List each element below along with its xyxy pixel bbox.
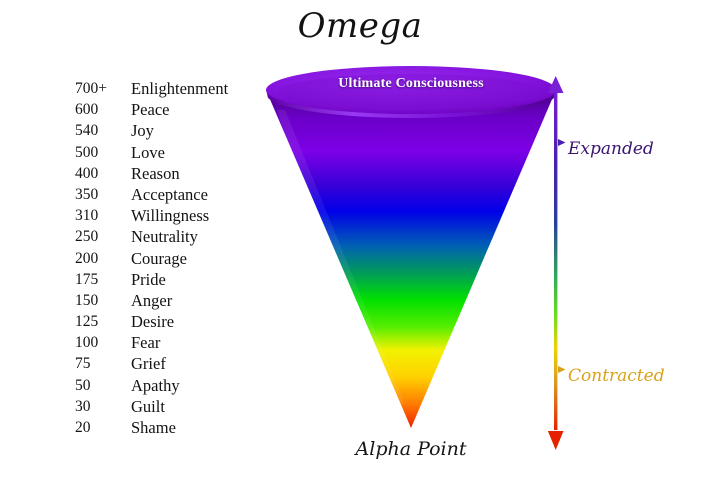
consciousness-cone: [255, 52, 575, 452]
scale-row: 200Courage: [70, 248, 270, 269]
scale-row: 600Peace: [70, 99, 270, 120]
scale-row: 500Love: [70, 142, 270, 163]
consciousness-scale-list: 700+Enlightenment600Peace540Joy500Love40…: [70, 78, 270, 438]
scale-row: 100Fear: [70, 332, 270, 353]
scale-row: 50Apathy: [70, 375, 270, 396]
scale-row-label: Desire: [131, 311, 174, 332]
axis-shaft: [554, 86, 557, 430]
scale-row-value: 125: [75, 311, 98, 332]
scale-row-value: 75: [75, 353, 91, 374]
cone-body: [266, 90, 556, 428]
scale-row-value: 310: [75, 205, 98, 226]
scale-row: 30Guilt: [70, 396, 270, 417]
scale-row-label: Anger: [131, 290, 172, 311]
scale-row: 400Reason: [70, 163, 270, 184]
scale-row-value: 150: [75, 290, 98, 311]
scale-row-value: 540: [75, 120, 98, 141]
axis-tick-contracted: [558, 366, 566, 373]
scale-row-value: 400: [75, 163, 98, 184]
scale-row-label: Apathy: [131, 375, 180, 396]
scale-row-label: Courage: [131, 248, 187, 269]
scale-row-value: 250: [75, 226, 98, 247]
scale-row: 540Joy: [70, 120, 270, 141]
cone-bottom-label: Alpha Point: [311, 438, 511, 460]
scale-row-label: Reason: [131, 163, 180, 184]
cone-svg: [255, 52, 575, 452]
scale-row: 150Anger: [70, 290, 270, 311]
scale-row-value: 50: [75, 375, 91, 396]
scale-row-label: Peace: [131, 99, 169, 120]
axis-svg: [534, 76, 580, 452]
scale-row: 250Neutrality: [70, 226, 270, 247]
scale-row-label: Acceptance: [131, 184, 208, 205]
scale-row-label: Pride: [131, 269, 166, 290]
axis-label-contracted: Contracted: [568, 366, 665, 386]
cone-opening-shadow: [278, 74, 544, 110]
scale-row: 310Willingness: [70, 205, 270, 226]
scale-row-value: 175: [75, 269, 98, 290]
scale-row-label: Grief: [131, 353, 166, 374]
scale-row-value: 350: [75, 184, 98, 205]
axis-arrowhead-down-icon: [548, 431, 564, 450]
axis-tick-expanded: [558, 139, 566, 146]
scale-row-value: 100: [75, 332, 98, 353]
scale-row-label: Neutrality: [131, 226, 198, 247]
scale-row-label: Shame: [131, 417, 176, 438]
expansion-axis: [534, 76, 580, 452]
scale-row-value: 20: [75, 417, 91, 438]
scale-row-label: Joy: [131, 120, 154, 141]
axis-label-expanded: Expanded: [568, 139, 654, 159]
scale-row: 20Shame: [70, 417, 270, 438]
scale-row-label: Willingness: [131, 205, 209, 226]
scale-row-value: 700+: [75, 78, 107, 99]
page-title: Omega: [0, 6, 720, 46]
scale-row-value: 30: [75, 396, 91, 417]
scale-row-label: Guilt: [131, 396, 165, 417]
scale-row: 175Pride: [70, 269, 270, 290]
scale-row-value: 500: [75, 142, 98, 163]
scale-row-label: Enlightenment: [131, 78, 228, 99]
scale-row-value: 600: [75, 99, 98, 120]
scale-row: 125Desire: [70, 311, 270, 332]
diagram-canvas: Omega 700+Enlightenment600Peace540Joy500…: [0, 0, 720, 480]
scale-row-label: Love: [131, 142, 165, 163]
scale-row: 75Grief: [70, 353, 270, 374]
scale-row-value: 200: [75, 248, 98, 269]
scale-row-label: Fear: [131, 332, 160, 353]
scale-row: 350Acceptance: [70, 184, 270, 205]
scale-row: 700+Enlightenment: [70, 78, 270, 99]
axis-arrowhead-up-icon: [548, 76, 564, 93]
